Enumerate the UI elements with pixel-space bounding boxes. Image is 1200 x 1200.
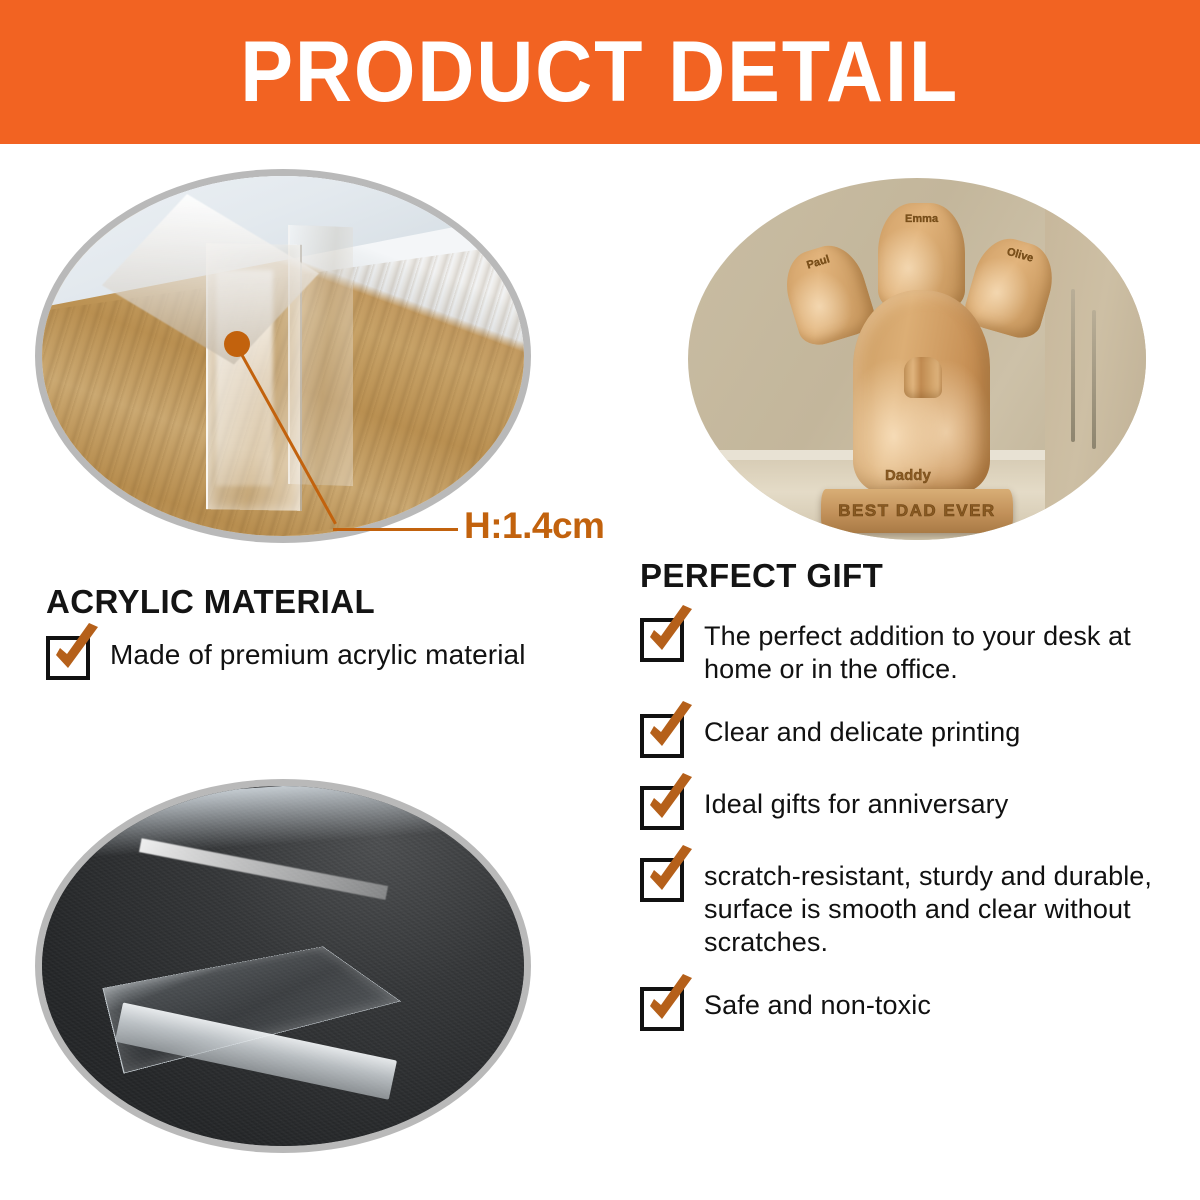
section-heading-acrylic-material: ACRYLIC MATERIAL	[46, 583, 375, 621]
list-item-label: Safe and non-toxic	[704, 985, 931, 1022]
cabinet-handle-right	[1092, 310, 1096, 449]
list-item: The perfect addition to your desk at hom…	[640, 616, 1170, 686]
list-item-label: Clear and delicate printing	[704, 712, 1020, 749]
header-banner: PRODUCT DETAIL	[0, 0, 1200, 144]
cabinet-handle-left	[1071, 289, 1075, 442]
engraved-base-text: BEST DAD EVER	[838, 501, 995, 521]
dimension-anchor-dot	[224, 331, 250, 357]
wooden-fist-bump-sculpture-photo: Paul Emma Olive Daddy BEST DAD EVER	[688, 178, 1146, 540]
list-item: Safe and non-toxic	[640, 985, 1170, 1031]
list-item: Clear and delicate printing	[640, 712, 1170, 758]
list-item: Ideal gifts for anniversary	[640, 784, 1170, 830]
page-title: PRODUCT DETAIL	[241, 29, 960, 115]
dimension-leader-line-horizontal	[333, 528, 458, 531]
list-item: scratch-resistant, sturdy and durable, s…	[640, 856, 1170, 959]
engraved-name-paul: Paul	[805, 254, 831, 272]
list-item: Made of premium acrylic material	[46, 634, 606, 680]
dimension-label: H:1.4cm	[464, 505, 604, 547]
engraved-name-daddy: Daddy	[885, 467, 931, 484]
list-item-label: Ideal gifts for anniversary	[704, 784, 1008, 821]
checkmark-icon	[46, 636, 90, 680]
engraved-name-olive: Olive	[1005, 246, 1034, 265]
photo-content: Paul Emma Olive Daddy BEST DAD EVER	[688, 178, 1146, 540]
section-heading-perfect-gift: PERFECT GIFT	[640, 557, 883, 595]
main-fist-knuckles	[904, 357, 942, 398]
checkmark-icon	[640, 858, 684, 902]
acrylic-block-on-slate-photo	[42, 786, 524, 1146]
checkmark-icon	[640, 714, 684, 758]
cabinet	[1045, 178, 1146, 526]
photo-content	[42, 176, 524, 536]
engraved-name-emma: Emma	[905, 213, 938, 225]
main-fist	[853, 290, 990, 493]
photo-content	[42, 786, 524, 1146]
checkmark-icon	[640, 786, 684, 830]
acrylic-edge-on-wood-photo	[42, 176, 524, 536]
list-item-label: The perfect addition to your desk at hom…	[704, 616, 1170, 686]
checkmark-icon	[640, 618, 684, 662]
checklist-acrylic-material: Made of premium acrylic material	[46, 634, 606, 706]
list-item-label: scratch-resistant, sturdy and durable, s…	[704, 856, 1170, 959]
checklist-perfect-gift: The perfect addition to your desk at hom…	[640, 616, 1170, 1057]
sculpture-base: BEST DAD EVER	[821, 489, 1013, 532]
checkmark-icon	[640, 987, 684, 1031]
list-item-label: Made of premium acrylic material	[110, 634, 526, 672]
